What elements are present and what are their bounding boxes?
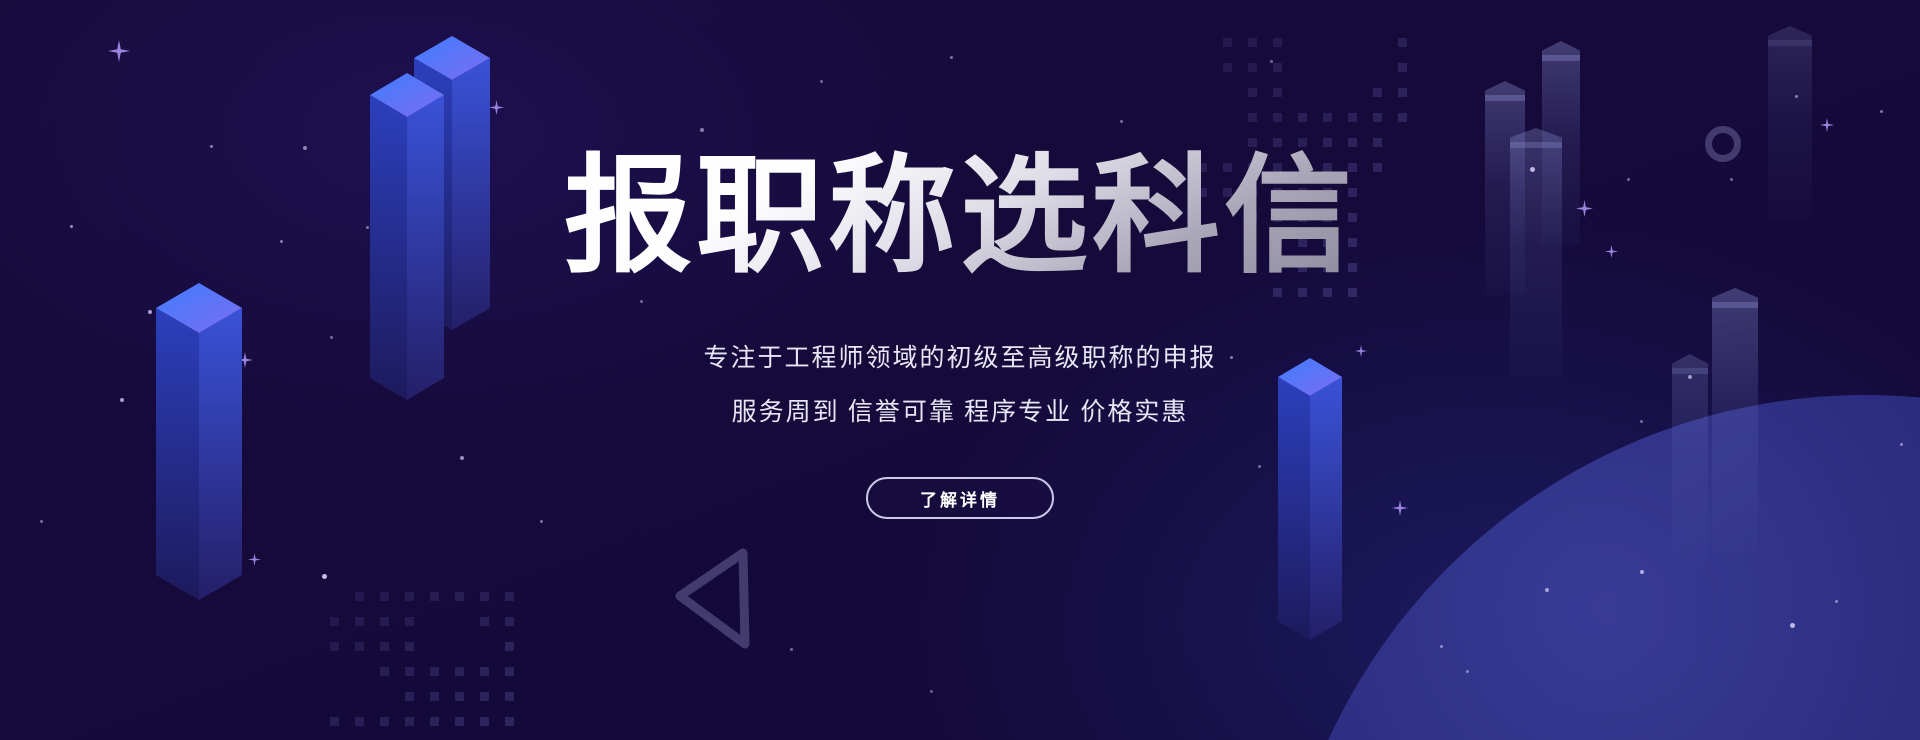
page-title: 报职称选科信: [564, 148, 1356, 286]
banner-subtitle: 专注于工程师领域的初级至高级职称的申报 服务周到 信誉可靠 程序专业 价格实惠: [703, 332, 1216, 440]
learn-more-button[interactable]: 了解详情: [866, 477, 1054, 519]
subtitle-line-2: 服务周到 信誉可靠 程序专业 价格实惠: [703, 386, 1216, 440]
hero-banner: 报职称选科信 专注于工程师领域的初级至高级职称的申报 服务周到 信誉可靠 程序专…: [0, 0, 1920, 740]
subtitle-line-1: 专注于工程师领域的初级至高级职称的申报: [703, 332, 1216, 386]
banner-content: 报职称选科信 专注于工程师领域的初级至高级职称的申报 服务周到 信誉可靠 程序专…: [0, 0, 1920, 740]
